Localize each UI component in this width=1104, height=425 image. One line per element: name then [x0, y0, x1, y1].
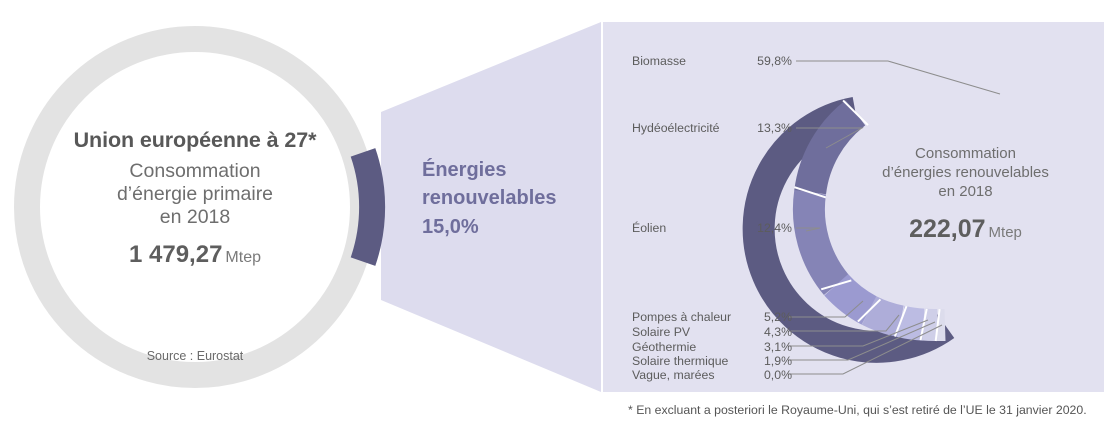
legend-value-pompes-a-chaleur: 5,2% [750, 310, 792, 324]
right-donut-subtitle-line2: d’énergies renouvelables [858, 164, 1073, 183]
footnote: * En excluant a posteriori le Royaume-Un… [628, 403, 1087, 417]
left-donut-subtitle-line1: Consommation [40, 160, 350, 183]
left-donut-unit: Mtep [225, 249, 261, 266]
left-donut-title: Union européenne à 27* [40, 128, 350, 153]
legend-value-biomasse: 59,8% [750, 54, 792, 68]
legend-row-eolien: Éolien 12,4% [632, 221, 792, 236]
legend-label-vague-marees: Vague, marées [632, 368, 714, 382]
left-donut-value: 1 479,27 [129, 241, 222, 268]
legend-row-vague-marees: Vague, marées 0,0% [632, 368, 792, 383]
legend-value-geothermie: 3,1% [750, 340, 792, 354]
legend-label-pompes-a-chaleur: Pompes à chaleur [632, 310, 731, 324]
donut-segment-solaire-pv [869, 311, 901, 322]
right-donut-value-row: 222,07Mtep [858, 214, 1073, 245]
legend-row-hydroelectricite: Hydéoélectricité 13,3% [632, 121, 792, 136]
legend-label-solaire-pv: Solaire PV [632, 325, 690, 339]
funnel-label-line2: renouvelables [422, 184, 592, 212]
source-note: Source : Eurostat [40, 349, 350, 363]
right-donut-unit: Mtep [989, 224, 1022, 241]
right-donut-subtitle-line1: Consommation [858, 145, 1073, 164]
funnel-label-percent: 15,0% [422, 213, 592, 241]
legend-row-geothermie: Géothermie 3,1% [632, 340, 792, 355]
infographic-root: Union européenne à 27* Consommation d’én… [0, 0, 1104, 425]
legend-value-eolien: 12,4% [750, 221, 792, 235]
funnel-label-block: Énergies renouvelables 15,0% [422, 156, 592, 241]
legend-label-biomasse: Biomasse [632, 54, 686, 68]
legend-value-hydroelectricite: 13,3% [750, 121, 792, 135]
legend-label-solaire-thermique: Solaire thermique [632, 354, 728, 368]
legend-value-solaire-thermique: 1,9% [750, 354, 792, 368]
legend-row-solaire-pv: Solaire PV 4,3% [632, 325, 792, 340]
legend-label-geothermie: Géothermie [632, 340, 696, 354]
left-donut-subtitle-line3: en 2018 [40, 206, 350, 229]
legend-row-solaire-thermique: Solaire thermique 1,9% [632, 354, 792, 369]
legend-value-vague-marees: 0,0% [750, 368, 792, 382]
legend-label-eolien: Éolien [632, 221, 666, 235]
legend-label-hydroelectricite: Hydéoélectricité [632, 121, 719, 135]
legend-row-pompes-a-chaleur: Pompes à chaleur 5,2% [632, 310, 792, 325]
right-donut-subtitle-line3: en 2018 [858, 183, 1073, 202]
legend-row-biomasse: Biomasse 59,8% [632, 54, 792, 69]
left-donut-text-block: Union européenne à 27* Consommation d’én… [40, 128, 350, 270]
legend-value-solaire-pv: 4,3% [750, 325, 792, 339]
left-donut-subtitle-line2: d’énergie primaire [40, 183, 350, 206]
left-donut-renewable-arc [363, 152, 372, 261]
funnel-label-line1: Énergies [422, 156, 592, 184]
donut-segment-pompes-a-chaleur [836, 285, 869, 311]
right-donut-text-block: Consommation d’énergies renouvelables en… [858, 145, 1073, 246]
right-donut-value: 222,07 [909, 215, 985, 243]
left-donut-value-row: 1 479,27Mtep [40, 241, 350, 269]
